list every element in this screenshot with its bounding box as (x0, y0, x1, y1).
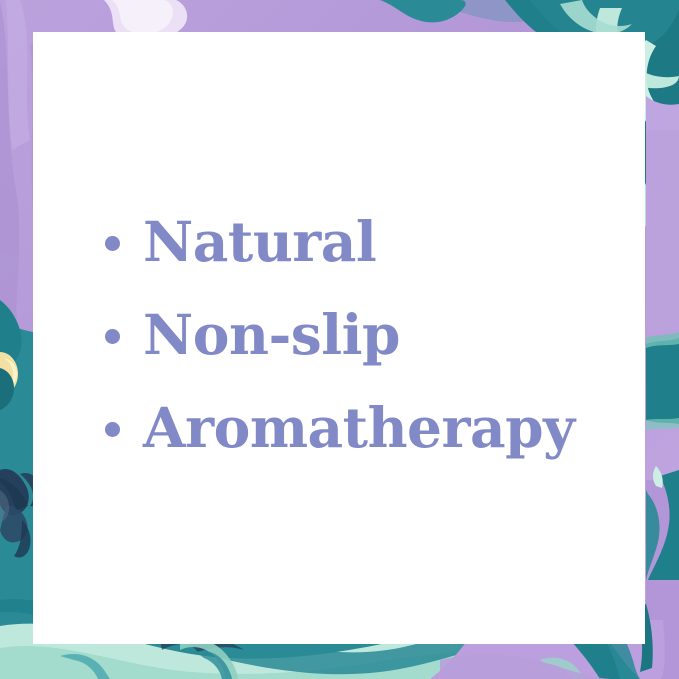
bullet-circle-icon (105, 236, 120, 251)
feature-list: Natural Non-slip Aromatherapy (105, 195, 625, 474)
list-item: Non-slip (105, 288, 625, 381)
bullet-circle-icon (105, 422, 120, 437)
product-feature-graphic: Natural Non-slip Aromatherapy (0, 0, 679, 679)
bullet-circle-icon (105, 329, 120, 344)
feature-label: Aromatherapy (143, 400, 575, 455)
bg-right-lavender-upper (646, 120, 679, 330)
list-item: Aromatherapy (105, 381, 625, 474)
list-item: Natural (105, 195, 625, 288)
feature-label: Non-slip (143, 307, 400, 362)
white-content-card: Natural Non-slip Aromatherapy (33, 32, 645, 644)
feature-label: Natural (143, 214, 376, 269)
bg-right-teal-band (646, 332, 679, 430)
